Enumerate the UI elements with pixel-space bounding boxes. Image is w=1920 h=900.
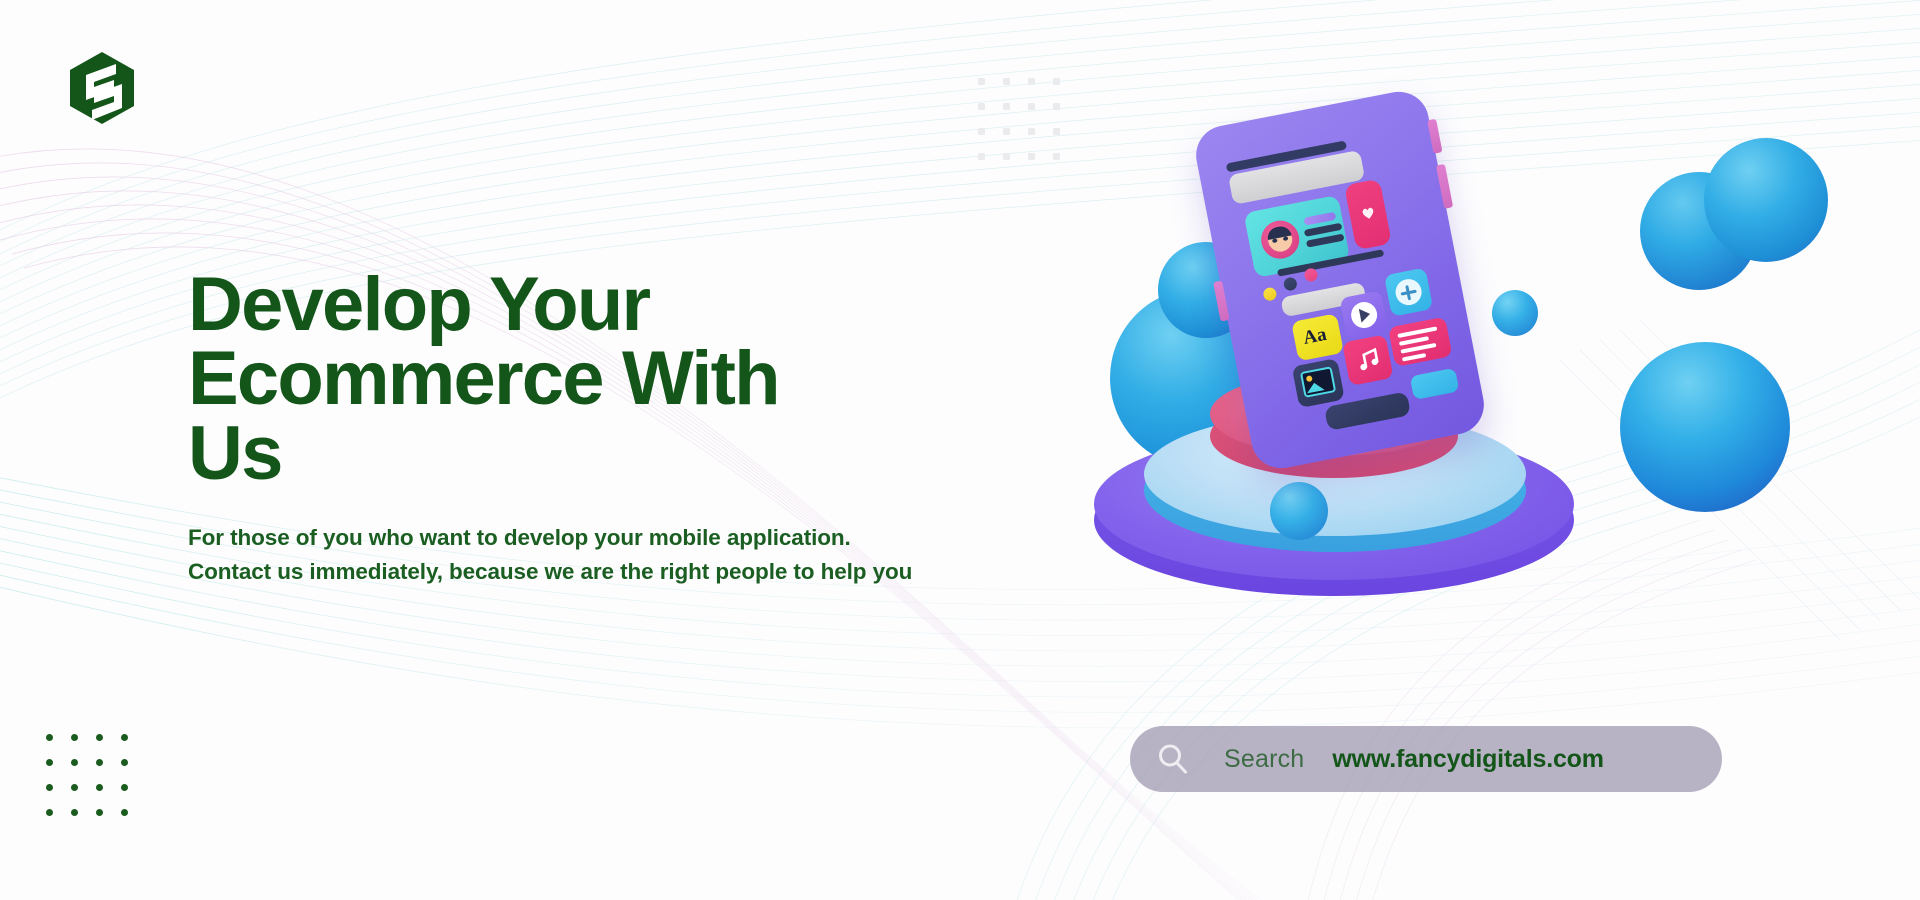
dot (71, 734, 78, 741)
blue-sphere-large-right (1620, 342, 1790, 512)
blue-sphere-upper-right-b (1704, 138, 1828, 262)
dot (1028, 153, 1035, 160)
dot (121, 734, 128, 741)
search-bar[interactable]: Search www.fancydigitals.com (1130, 726, 1722, 792)
dot (71, 784, 78, 791)
blue-sphere-tiny-right (1492, 290, 1538, 336)
dot (46, 784, 53, 791)
dot (71, 809, 78, 816)
dot (96, 759, 103, 766)
hero-banner: Develop Your Ecommerce With Us For those… (0, 0, 1920, 900)
heart-icon (1361, 206, 1376, 220)
hero-text-block: Develop Your Ecommerce With Us For those… (188, 268, 928, 588)
dot (978, 128, 985, 135)
dot (1003, 153, 1010, 160)
dot (1028, 78, 1035, 85)
search-icon[interactable] (1156, 742, 1190, 776)
dot (1028, 128, 1035, 135)
dot (1028, 103, 1035, 110)
dot (96, 734, 103, 741)
dot (1003, 103, 1010, 110)
dot (121, 784, 128, 791)
dot (71, 759, 78, 766)
ui-tile-aa-label: Aa (1301, 324, 1328, 350)
blue-sphere-tiny-left (1270, 482, 1328, 540)
search-placeholder[interactable]: Search (1224, 745, 1304, 774)
fancydigitals-hexagon-logo (64, 50, 140, 126)
dot (1053, 128, 1060, 135)
dot (46, 759, 53, 766)
dot (978, 153, 985, 160)
dot (1003, 128, 1010, 135)
dot-grid-top (978, 78, 1060, 160)
dot (1053, 153, 1060, 160)
dot (1053, 78, 1060, 85)
hero-subtitle: For those of you who want to develop you… (188, 521, 928, 588)
search-url-value[interactable]: www.fancydigitals.com (1332, 745, 1603, 774)
dot (96, 809, 103, 816)
dot (96, 784, 103, 791)
dot (121, 809, 128, 816)
page-title: Develop Your Ecommerce With Us (188, 268, 928, 491)
dot (1003, 78, 1010, 85)
music-note-icon (1354, 346, 1382, 374)
dot (978, 78, 985, 85)
dot (46, 734, 53, 741)
dot-grid-bottom (46, 734, 128, 816)
dot (1053, 103, 1060, 110)
brand-logo[interactable] (64, 50, 140, 126)
dot (978, 103, 985, 110)
dot (121, 759, 128, 766)
hero-illustration: Aa (1080, 110, 1920, 670)
dot (46, 809, 53, 816)
